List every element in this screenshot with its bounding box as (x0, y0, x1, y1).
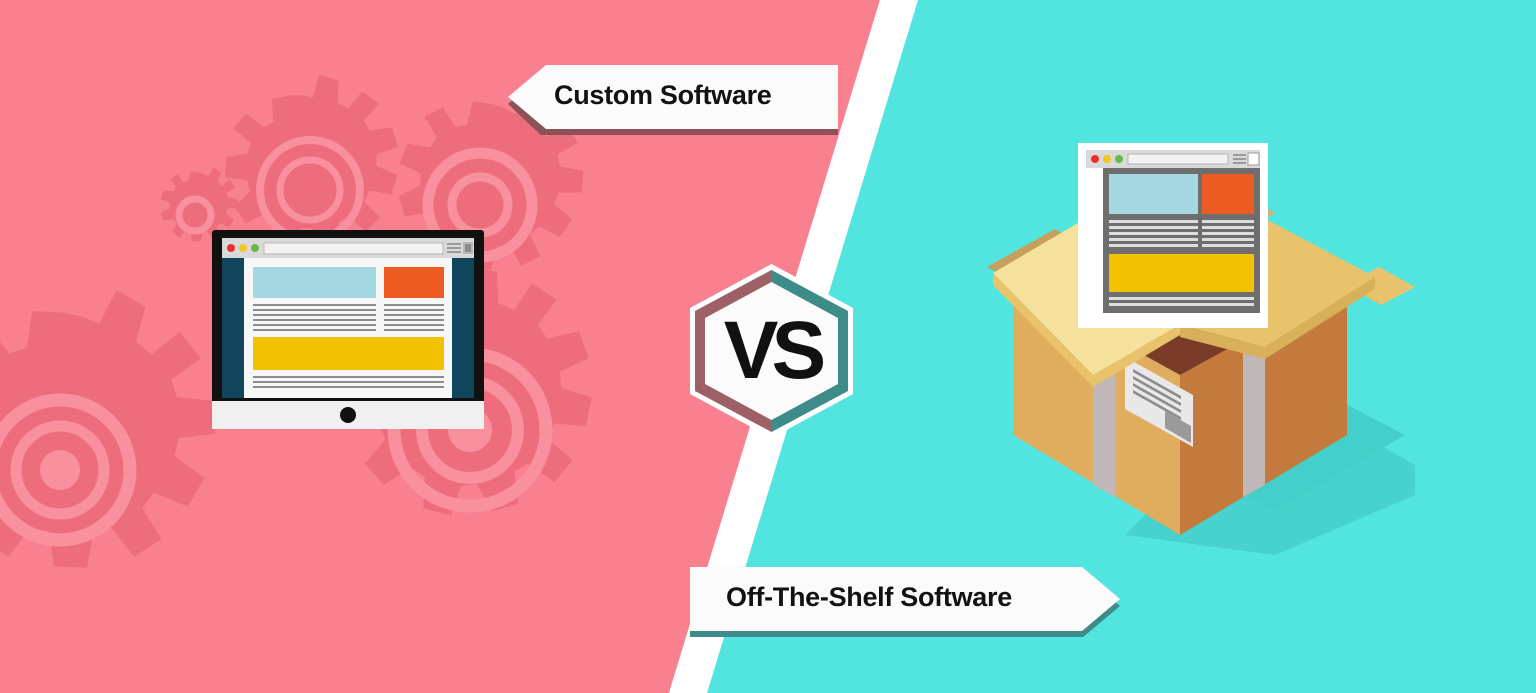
banner-off-the-shelf-software: Off-The-Shelf Software (690, 562, 1120, 637)
vs-badge: VS (684, 262, 859, 440)
desktop-monitor-illustration (190, 225, 510, 475)
banner-top-label: Custom Software (554, 80, 772, 111)
vs-label: VS (684, 262, 859, 440)
banner-custom-software: Custom Software (508, 60, 838, 135)
boxed-window-mockup (1078, 143, 1268, 328)
banner-bottom-label: Off-The-Shelf Software (726, 582, 1012, 613)
comparison-graphic: Custom Software Off-The-Shelf Software V… (0, 0, 1536, 693)
